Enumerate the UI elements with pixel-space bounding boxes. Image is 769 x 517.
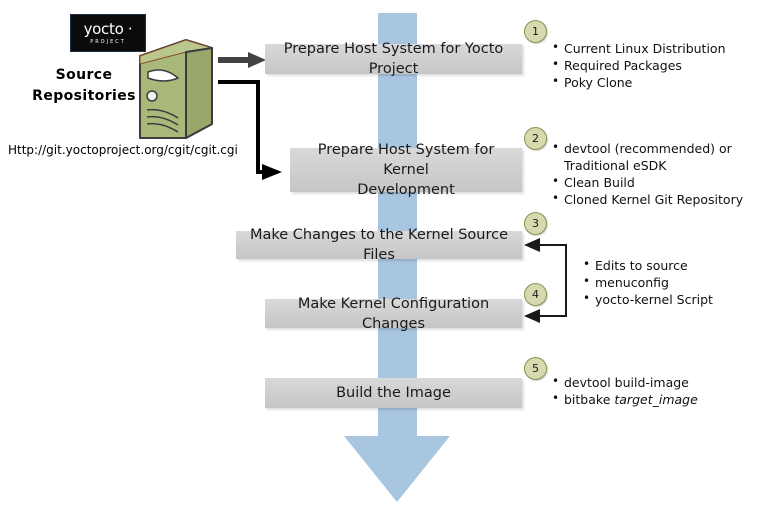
step-number-3: 3 [524,212,547,235]
step-number-4: 4 [524,283,547,306]
step-number-1: 1 [524,20,547,43]
list-item: Cloned Kernel Git Repository [552,191,752,208]
list-item: devtool (recommended) or Traditional eSD… [552,140,752,174]
bullet-list-step-1: Current Linux Distribution Required Pack… [552,40,762,91]
process-box-step-1[interactable]: Prepare Host System for Yocto Project [265,44,522,74]
server-tower-icon [134,38,216,142]
diagram-canvas: yocto · PROJECT Source Repositories Http… [0,0,769,517]
list-item: menuconfig [583,274,753,291]
source-repositories-label: Source Repositories [30,65,138,107]
bullet-list-step-2: devtool (recommended) or Traditional eSD… [552,140,752,208]
yocto-logo-wordmark: yocto · [71,15,145,37]
list-item: Clean Build [552,174,752,191]
process-box-step-2[interactable]: Prepare Host System for Kernel Developme… [290,148,522,192]
target-image-term: target_image [614,392,697,407]
process-box-step-3[interactable]: Make Changes to the Kernel Source Files [236,231,522,259]
list-item: Required Packages [552,57,762,74]
connector-server-to-step2 [218,82,282,180]
list-item: Poky Clone [552,74,762,91]
list-item: yocto-kernel Script [583,291,753,308]
step-number-5: 5 [524,357,547,380]
bullet-list-step-5: devtool build-image bitbake target_image [552,374,752,408]
connector-bracket-steps-3-4 [524,238,566,323]
list-item: Current Linux Distribution [552,40,762,57]
step-number-2: 2 [524,127,547,150]
connector-server-to-step1 [218,52,266,68]
source-repositories-url: Http://git.yoctoproject.org/cgit/cgit.cg… [8,142,238,158]
list-item-italic-term: bitbake target_image [552,391,752,408]
list-item: Edits to source [583,257,753,274]
bitbake-prefix: bitbake [564,392,614,407]
process-box-step-5[interactable]: Build the Image [265,378,522,408]
list-item: devtool build-image [552,374,752,391]
process-box-step-4[interactable]: Make Kernel Configuration Changes [265,299,522,328]
bullet-list-steps-3-4: Edits to source menuconfig yocto-kernel … [583,257,753,308]
